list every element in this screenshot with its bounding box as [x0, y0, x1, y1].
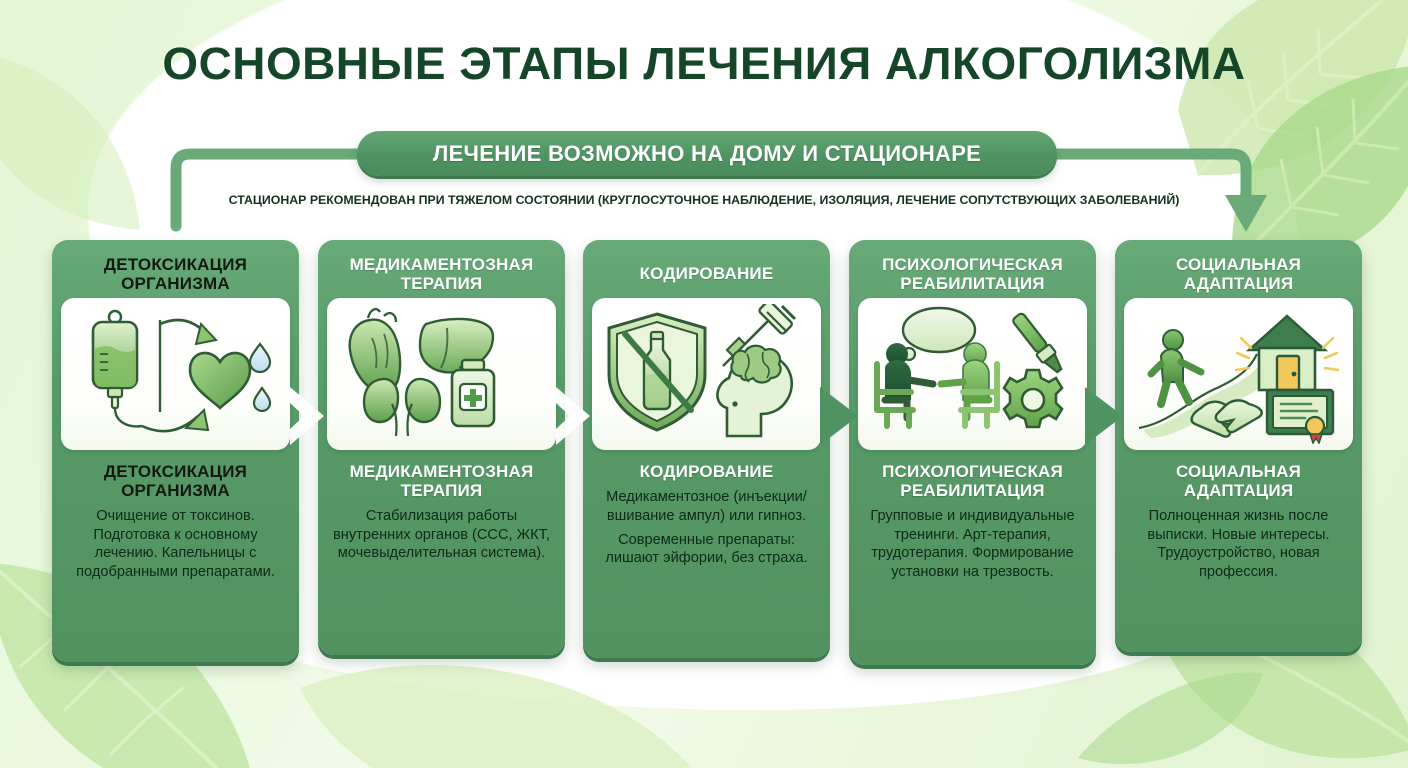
treatment-location-banner: ЛЕЧЕНИЕ ВОЗМОЖНО НА ДОМУ И СТАЦИОНАРЕ [357, 131, 1057, 176]
stage-name: ДЕТОКСИКАЦИЯ ОРГАНИЗМА [61, 462, 290, 500]
stage-card-psihologicheskaya-reabilitaciya[interactable]: ПСИХОЛОГИЧЕСКАЯ РЕАБИЛИТАЦИЯ [849, 240, 1096, 665]
stage-description: Групповые и индивидуальные тренинги. Арт… [858, 507, 1087, 581]
organs-heart-liver-kidneys-medicine-icon [327, 298, 556, 450]
stage-description: Стабилизация работы внутренних органов (… [327, 507, 556, 562]
stage-description-line: Медикаментозное (инъекции/вшивание ампул… [595, 488, 818, 525]
flow-arrow-4 [1081, 385, 1129, 447]
stage-top-title: ПСИХОЛОГИЧЕСКАЯ РЕАБИЛИТАЦИЯ [858, 252, 1087, 294]
stage-name: СОЦИАЛЬНАЯ АДАПТАЦИЯ [1124, 462, 1353, 500]
stage-top-title: СОЦИАЛЬНАЯ АДАПТАЦИЯ [1124, 252, 1353, 294]
stage-description-line: Стабилизация работы внутренних органов (… [330, 507, 553, 562]
person-house-handshake-certificate-icon [1124, 298, 1353, 450]
shield-no-alcohol-syringe-brain-icon [592, 298, 821, 450]
stage-description: Медикаментозное (инъекции/вшивание ампул… [592, 488, 821, 568]
stage-card-kodirovanie[interactable]: КОДИРОВАНИЕ [583, 240, 830, 658]
stage-top-title: МЕДИКАМЕНТОЗНАЯ ТЕРАПИЯ [327, 252, 556, 294]
flow-arrow-2 [550, 385, 598, 447]
stage-top-title: КОДИРОВАНИЕ [636, 252, 778, 294]
stages-row: ДЕТОКСИКАЦИЯ ОРГАНИЗМА [0, 240, 1408, 670]
therapy-session-brush-gear-icon [858, 298, 1087, 450]
stage-top-title: ДЕТОКСИКАЦИЯ ОРГАНИЗМА [61, 252, 290, 294]
banner-label: ЛЕЧЕНИЕ ВОЗМОЖНО НА ДОМУ И СТАЦИОНАРЕ [433, 141, 981, 167]
stage-description-line: Групповые и индивидуальные тренинги. Арт… [861, 507, 1084, 581]
stage-description: Полноценная жизнь после выписки. Новые и… [1124, 507, 1353, 581]
banner-subtitle: СТАЦИОНАР РЕКОМЕНДОВАН ПРИ ТЯЖЕЛОМ СОСТО… [4, 193, 1405, 207]
stage-card-medikamentoznaya-terapiya[interactable]: МЕДИКАМЕНТОЗНАЯ ТЕРАПИЯ [318, 240, 565, 655]
stage-description-line: Полноценная жизнь после выписки. Новые и… [1127, 507, 1350, 581]
stage-description-line: Современные препараты: лишают эйфории, б… [595, 531, 818, 568]
stage-card-socialnaya-adaptaciya[interactable]: СОЦИАЛЬНАЯ АДАПТАЦИЯ [1115, 240, 1362, 652]
stage-description: Очищение от токсинов. Подготовка к основ… [61, 507, 290, 581]
stage-name: МЕДИКАМЕНТОЗНАЯ ТЕРАПИЯ [327, 462, 556, 500]
stage-name: КОДИРОВАНИЕ [640, 462, 774, 481]
stage-card-detoxikaciya[interactable]: ДЕТОКСИКАЦИЯ ОРГАНИЗМА [52, 240, 299, 662]
stage-description-line: Очищение от токсинов. Подготовка к основ… [64, 507, 287, 581]
flow-arrow-1 [284, 385, 332, 447]
flow-arrow-3 [816, 385, 864, 447]
iv-drip-heart-droplets-icon [61, 298, 290, 450]
stage-name: ПСИХОЛОГИЧЕСКАЯ РЕАБИЛИТАЦИЯ [858, 462, 1087, 500]
page-title: ОСНОВНЫЕ ЭТАПЫ ЛЕЧЕНИЯ АЛКОГОЛИЗМА [0, 38, 1408, 90]
